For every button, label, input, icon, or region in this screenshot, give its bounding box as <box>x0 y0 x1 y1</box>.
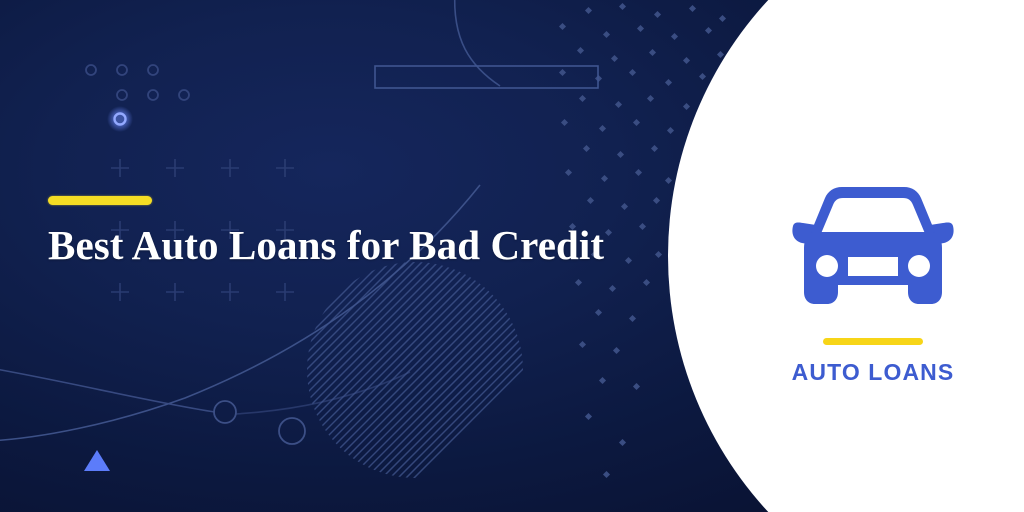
ring-dot-cluster <box>86 65 189 100</box>
page-title: Best Auto Loans for Bad Credit <box>48 223 688 269</box>
decorative-arc-top <box>455 0 500 86</box>
outline-rectangle <box>375 66 598 88</box>
headline-block: Best Auto Loans for Bad Credit <box>48 196 688 269</box>
auto-loans-hero-banner: Best Auto Loans for Bad Credit AUTO LOAN… <box>0 0 1024 512</box>
car-front-icon <box>791 186 955 320</box>
triangle-marker <box>84 450 110 471</box>
logo-yellow-rule <box>823 338 923 345</box>
auto-loans-logo-block: AUTO LOANS <box>782 186 964 386</box>
node-circle-right <box>279 418 305 444</box>
decorative-arc-lower <box>0 368 215 412</box>
logo-label: AUTO LOANS <box>792 359 955 386</box>
node-circle-left <box>214 401 236 423</box>
yellow-accent-bar <box>48 196 152 205</box>
ring-dot-highlight-glow <box>107 106 133 132</box>
hatched-circle <box>280 36 560 512</box>
